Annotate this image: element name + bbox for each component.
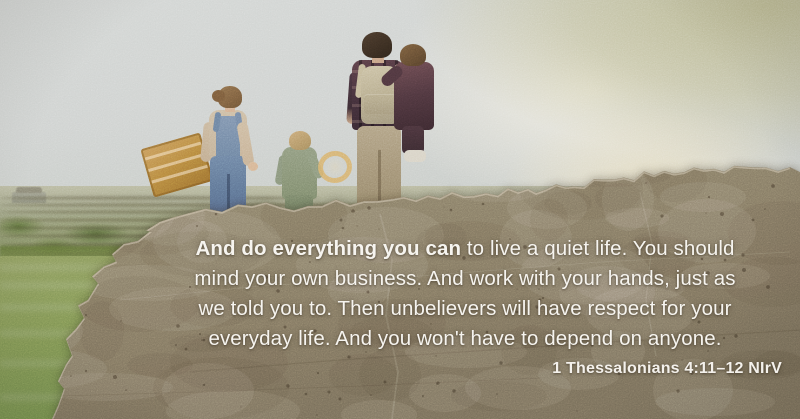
stone-slab xyxy=(0,0,800,419)
quote-line-1-rest: to live a quiet life. You should xyxy=(461,237,734,260)
scripture-reference: 1 Thessalonians 4:11–12 NIrV xyxy=(140,360,790,378)
scripture-quote-card: And do everything you can to live a quie… xyxy=(0,0,800,419)
quote-line-1: And do everything you can to live a quie… xyxy=(140,234,790,264)
quote-line-3: we told you to. Then unbelievers will ha… xyxy=(140,294,790,324)
scripture-quote: And do everything you can to live a quie… xyxy=(140,234,790,354)
quote-line-2: mind your own business. And work with yo… xyxy=(140,264,790,294)
quote-lead-bold: And do everything you can xyxy=(195,237,461,260)
quote-line-4: everyday life. And you won't have to dep… xyxy=(140,324,790,354)
